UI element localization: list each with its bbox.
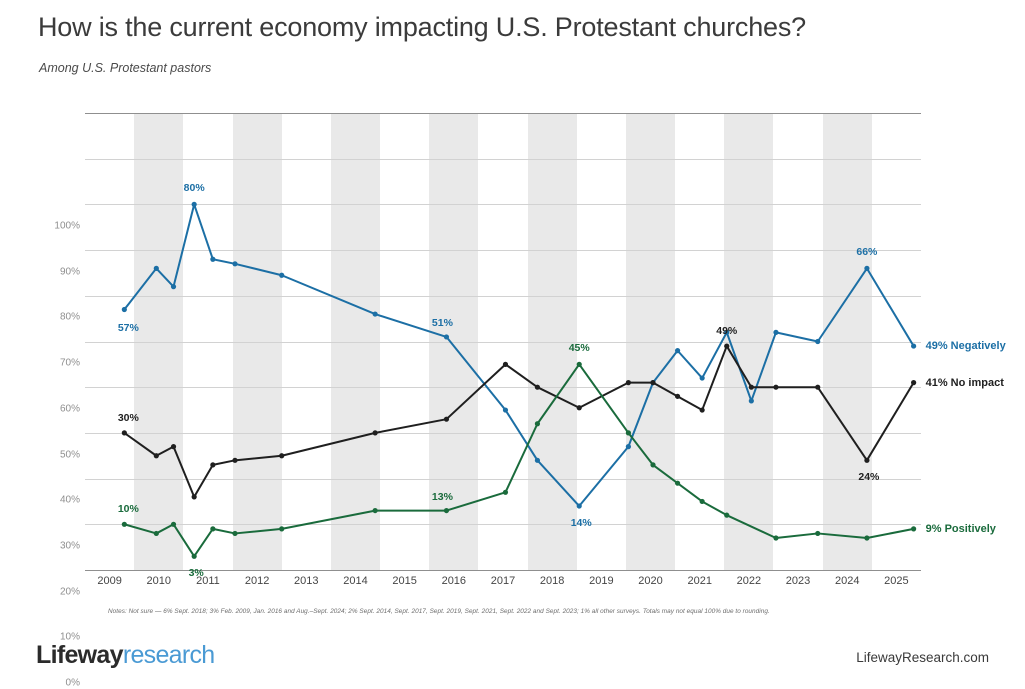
chart-page: How is the current economy impacting U.S… <box>0 0 1025 683</box>
data-point <box>122 522 127 527</box>
x-axis-labels: 2009201020112012201320142015201620172018… <box>85 575 921 595</box>
data-point <box>773 535 778 540</box>
data-point <box>279 526 284 531</box>
data-point <box>503 362 508 367</box>
data-point <box>864 535 869 540</box>
x-tick-2013: 2013 <box>294 575 318 587</box>
data-point <box>535 458 540 463</box>
data-label-negatively-80: 80% <box>184 182 205 194</box>
line-series-svg <box>85 113 921 570</box>
data-point <box>503 407 508 412</box>
x-tick-2021: 2021 <box>687 575 711 587</box>
data-point <box>444 334 449 339</box>
y-tick-60%: 60% <box>40 403 80 414</box>
data-label-negatively-66: 66% <box>856 246 877 258</box>
data-point <box>192 554 197 559</box>
footer-url: LifewayResearch.com <box>856 650 989 665</box>
y-tick-80%: 80% <box>40 312 80 323</box>
x-tick-2016: 2016 <box>442 575 466 587</box>
data-point <box>700 499 705 504</box>
x-tick-2020: 2020 <box>638 575 662 587</box>
x-tick-2023: 2023 <box>786 575 810 587</box>
data-point <box>232 261 237 266</box>
data-point <box>535 385 540 390</box>
y-tick-30%: 30% <box>40 540 80 551</box>
x-tick-2015: 2015 <box>392 575 416 587</box>
data-point <box>577 405 582 410</box>
y-tick-100%: 100% <box>40 221 80 232</box>
data-point <box>373 508 378 513</box>
data-label-no-impact-49: 49% <box>716 325 737 337</box>
data-point <box>650 462 655 467</box>
data-point <box>373 311 378 316</box>
end-label-negatively: 49% Negatively <box>926 340 1006 352</box>
data-label-no-impact-24: 24% <box>858 471 879 483</box>
data-label-no-impact-30: 30% <box>118 412 139 424</box>
x-tick-2011: 2011 <box>196 575 220 587</box>
data-point <box>724 513 729 518</box>
end-label-positively: 9% Positively <box>926 523 996 535</box>
data-point <box>232 458 237 463</box>
data-point <box>724 343 729 348</box>
chart-notes: Notes: Not sure — 6% Sept. 2018; 3% Feb.… <box>108 608 770 615</box>
data-point <box>577 503 582 508</box>
data-point <box>154 531 159 536</box>
data-label-positively-10: 10% <box>118 503 139 515</box>
data-point <box>911 343 916 348</box>
gridline-0 <box>85 570 921 571</box>
data-point <box>210 257 215 262</box>
data-point <box>749 398 754 403</box>
series-line-negatively <box>124 204 913 506</box>
data-point <box>577 362 582 367</box>
data-point <box>154 453 159 458</box>
data-point <box>279 453 284 458</box>
lifeway-research-logo: Lifewayresearch <box>36 641 214 670</box>
data-point <box>171 284 176 289</box>
data-point <box>171 444 176 449</box>
data-point <box>675 394 680 399</box>
data-point <box>864 458 869 463</box>
plot-area: 57%80%51%14%66%30%49%24%10%3%13%45% 49% … <box>85 113 921 570</box>
data-point <box>675 348 680 353</box>
data-point <box>122 307 127 312</box>
page-title: How is the current economy impacting U.S… <box>38 12 806 43</box>
x-tick-2017: 2017 <box>491 575 515 587</box>
data-label-positively-45: 45% <box>569 342 590 354</box>
page-subtitle: Among U.S. Protestant pastors <box>39 61 211 75</box>
data-point <box>210 462 215 467</box>
x-tick-2022: 2022 <box>737 575 761 587</box>
data-point <box>675 481 680 486</box>
data-label-negatively-14: 14% <box>571 517 592 529</box>
data-point <box>911 526 916 531</box>
data-label-negatively-57: 57% <box>118 322 139 334</box>
end-label-no-impact: 41% No impact <box>926 377 1004 389</box>
data-point <box>700 407 705 412</box>
data-point <box>773 330 778 335</box>
data-point <box>154 266 159 271</box>
data-point <box>626 380 631 385</box>
data-point <box>749 385 754 390</box>
data-point <box>700 375 705 380</box>
series-line-no-impact <box>124 346 913 497</box>
data-point <box>626 430 631 435</box>
data-point <box>815 385 820 390</box>
y-tick-0%: 0% <box>40 678 80 689</box>
x-tick-2024: 2024 <box>835 575 859 587</box>
data-point <box>210 526 215 531</box>
x-tick-2012: 2012 <box>245 575 269 587</box>
data-point <box>279 273 284 278</box>
data-point <box>626 444 631 449</box>
y-tick-70%: 70% <box>40 358 80 369</box>
y-tick-50%: 50% <box>40 449 80 460</box>
y-tick-20%: 20% <box>40 586 80 597</box>
x-tick-2019: 2019 <box>589 575 613 587</box>
x-tick-2025: 2025 <box>884 575 908 587</box>
x-tick-2014: 2014 <box>343 575 367 587</box>
data-point <box>444 508 449 513</box>
data-point <box>650 380 655 385</box>
y-tick-40%: 40% <box>40 495 80 506</box>
x-tick-2009: 2009 <box>97 575 121 587</box>
data-point <box>503 490 508 495</box>
data-point <box>192 494 197 499</box>
data-point <box>171 522 176 527</box>
data-label-positively-13: 13% <box>432 491 453 503</box>
data-point <box>773 385 778 390</box>
y-tick-90%: 90% <box>40 266 80 277</box>
data-point <box>864 266 869 271</box>
data-point <box>911 380 916 385</box>
logo-lifeway: Lifeway <box>36 641 123 669</box>
data-point <box>192 202 197 207</box>
data-point <box>815 531 820 536</box>
data-point <box>444 417 449 422</box>
x-tick-2018: 2018 <box>540 575 564 587</box>
x-tick-2010: 2010 <box>147 575 171 587</box>
data-point <box>815 339 820 344</box>
data-point <box>122 430 127 435</box>
data-point <box>535 421 540 426</box>
data-point <box>232 531 237 536</box>
data-label-negatively-51: 51% <box>432 317 453 329</box>
logo-research: research <box>123 641 215 669</box>
data-point <box>373 430 378 435</box>
